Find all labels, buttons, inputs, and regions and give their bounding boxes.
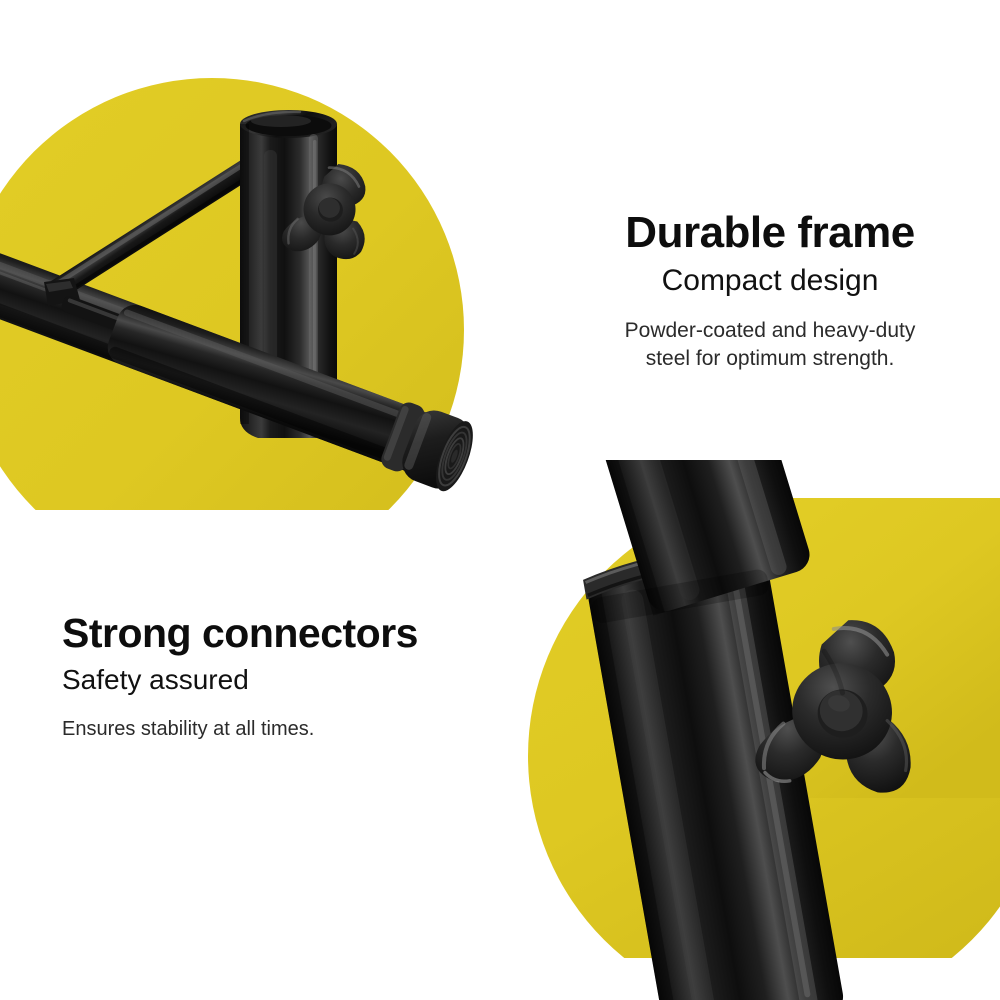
feature-title: Strong connectors — [62, 612, 512, 655]
feature-body-line: Ensures stability at all times. — [62, 716, 512, 743]
feature-text-strong-connectors: Strong connectors Safety assured Ensures… — [62, 612, 512, 743]
feature-body: Powder-coated and heavy-duty steel for o… — [560, 317, 980, 373]
feature-body: Ensures stability at all times. — [62, 716, 512, 743]
feature-body-line: steel for optimum strength. — [560, 345, 980, 373]
connector-knob-illustration — [520, 460, 1000, 1000]
photo-panel-connector-knob — [520, 460, 1000, 1000]
feature-subtitle: Safety assured — [62, 664, 512, 696]
feature-subtitle: Compact design — [560, 264, 980, 299]
photo-panel-frame-t-joint — [0, 0, 520, 520]
feature-text-durable-frame: Durable frame Compact design Powder-coat… — [560, 210, 980, 373]
infographic-canvas: Durable frame Compact design Powder-coat… — [0, 0, 1000, 1000]
feature-title: Durable frame — [560, 210, 980, 256]
feature-body-line: Powder-coated and heavy-duty — [560, 317, 980, 345]
frame-t-joint-illustration — [0, 0, 520, 520]
